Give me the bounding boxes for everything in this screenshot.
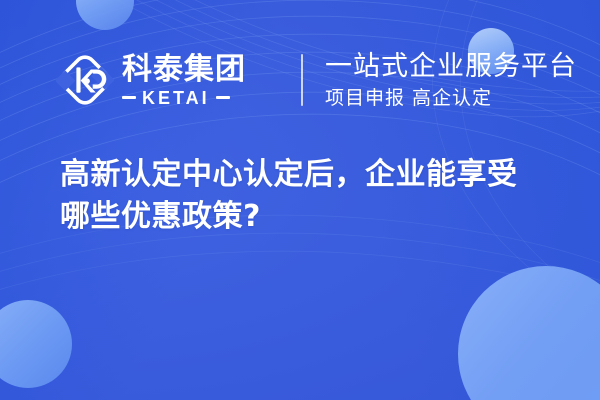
brand-name-en-row: KETAI — [122, 89, 270, 107]
ketai-diamond-kd-logo-icon — [56, 51, 114, 109]
banner-header: 科泰集团 KETAI 一站式企业服务平台 项目申报 高企认定 — [0, 40, 600, 120]
brand-name-cn: 科泰集团 — [122, 54, 270, 86]
dash-right-icon — [216, 96, 230, 99]
slogan-block: 一站式企业服务平台 项目申报 高企认定 — [325, 50, 577, 111]
brand-wordmark: 科泰集团 KETAI — [122, 54, 270, 107]
slogan-sub: 项目申报 高企认定 — [325, 85, 577, 111]
headline: 高新认定中心认定后，企业能享受 哪些优惠政策? — [60, 154, 560, 238]
slogan-main: 一站式企业服务平台 — [325, 50, 577, 83]
headline-line-1: 高新认定中心认定后，企业能享受 — [60, 154, 560, 196]
promo-banner: 科泰集团 KETAI 一站式企业服务平台 项目申报 高企认定 高新认定中心认定后… — [0, 0, 600, 400]
brand-logo[interactable]: 科泰集团 KETAI — [56, 51, 270, 109]
dash-left-icon — [122, 96, 136, 99]
header-divider — [301, 54, 303, 106]
headline-line-2: 哪些优惠政策? — [60, 196, 560, 238]
brand-name-en: KETAI — [142, 89, 210, 107]
